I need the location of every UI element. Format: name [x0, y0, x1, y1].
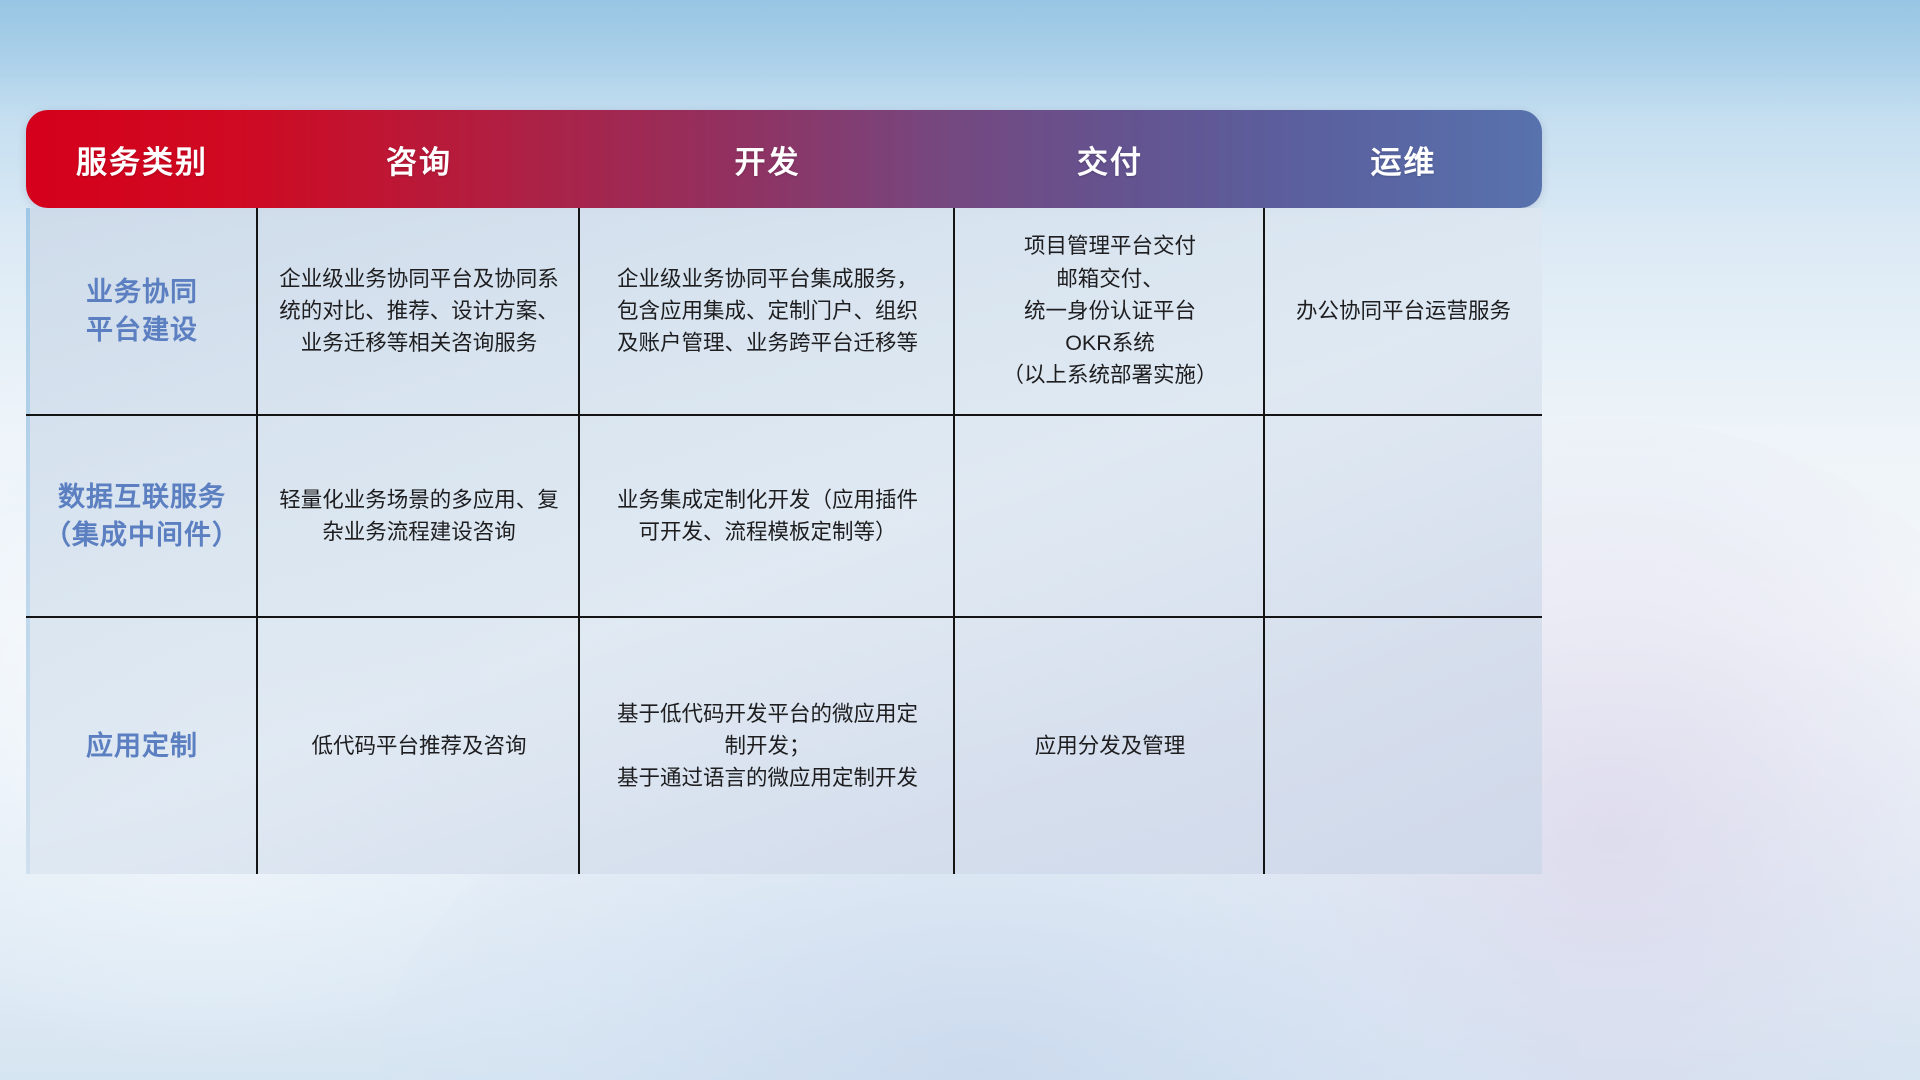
table-header-cell-development: 开发	[580, 137, 955, 182]
table-cell-delivery: 应用分发及管理	[955, 618, 1265, 874]
table-header-cell-service-category: 服务类别	[26, 137, 258, 182]
table-cell-delivery	[955, 416, 1265, 616]
cell-text: 应用分发及管理	[1035, 730, 1186, 762]
table-cell-category: 数据互联服务 （集成中间件）	[26, 416, 258, 616]
table-cell-delivery: 项目管理平台交付 邮箱交付、 统一身份认证平台 OKR系统 （以上系统部署实施）	[955, 208, 1265, 414]
table-row: 业务协同 平台建设 企业级业务协同平台及协同系 统的对比、推荐、设计方案、 业务…	[26, 208, 1542, 414]
cell-text: 基于低代码开发平台的微应用定 制开发； 基于通过语言的微应用定制开发	[617, 698, 918, 795]
table-cell-development: 基于低代码开发平台的微应用定 制开发； 基于通过语言的微应用定制开发	[580, 618, 955, 874]
category-label: 应用定制	[86, 727, 198, 765]
table-body: 业务协同 平台建设 企业级业务协同平台及协同系 统的对比、推荐、设计方案、 业务…	[26, 208, 1542, 874]
category-label: 业务协同 平台建设	[86, 273, 198, 350]
cell-text: 办公协同平台运营服务	[1296, 295, 1511, 327]
cell-text: 项目管理平台交付 邮箱交付、 统一身份认证平台 OKR系统 （以上系统部署实施）	[1002, 230, 1217, 391]
service-matrix-table: 服务类别 咨询 开发 交付 运维 业务协同 平台建设 企业级业务协同平台及协同系…	[26, 110, 1542, 874]
table-header-cell-delivery: 交付	[955, 137, 1265, 182]
table-cell-operations	[1265, 416, 1542, 616]
cell-text: 企业级业务协同平台集成服务， 包含应用集成、定制门户、组织 及账户管理、业务跨平…	[617, 263, 918, 360]
cell-text: 业务集成定制化开发（应用插件 可开发、流程模板定制等）	[617, 484, 918, 549]
cell-text: 企业级业务协同平台及协同系 统的对比、推荐、设计方案、 业务迁移等相关咨询服务	[279, 263, 559, 360]
table-header-row: 服务类别 咨询 开发 交付 运维	[26, 110, 1542, 208]
table-cell-development: 企业级业务协同平台集成服务， 包含应用集成、定制门户、组织 及账户管理、业务跨平…	[580, 208, 955, 414]
background-top-sheen	[0, 0, 1920, 120]
table-row: 应用定制 低代码平台推荐及咨询 基于低代码开发平台的微应用定 制开发； 基于通过…	[26, 616, 1542, 874]
category-label: 数据互联服务 （集成中间件）	[44, 478, 240, 555]
table-cell-development: 业务集成定制化开发（应用插件 可开发、流程模板定制等）	[580, 416, 955, 616]
table-cell-consulting: 轻量化业务场景的多应用、复 杂业务流程建设咨询	[258, 416, 580, 616]
table-row: 数据互联服务 （集成中间件） 轻量化业务场景的多应用、复 杂业务流程建设咨询 业…	[26, 414, 1542, 616]
table-cell-category: 业务协同 平台建设	[26, 208, 258, 414]
cell-text: 低代码平台推荐及咨询	[311, 730, 526, 762]
table-header-cell-operations: 运维	[1265, 137, 1542, 182]
table-cell-operations	[1265, 618, 1542, 874]
table-cell-consulting: 企业级业务协同平台及协同系 统的对比、推荐、设计方案、 业务迁移等相关咨询服务	[258, 208, 580, 414]
table-cell-category: 应用定制	[26, 618, 258, 874]
table-header-cell-consulting: 咨询	[258, 137, 580, 182]
table-cell-operations: 办公协同平台运营服务	[1265, 208, 1542, 414]
cell-text: 轻量化业务场景的多应用、复 杂业务流程建设咨询	[279, 484, 559, 549]
table-cell-consulting: 低代码平台推荐及咨询	[258, 618, 580, 874]
